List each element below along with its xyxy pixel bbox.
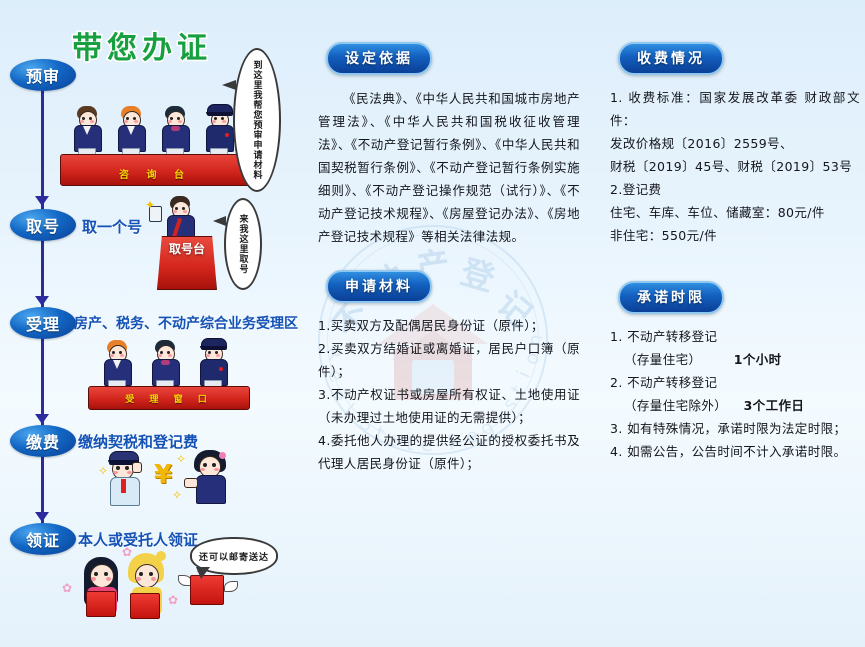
speech-bubble-tail bbox=[196, 567, 210, 579]
timeline-item: 1. 不动产转移登记 bbox=[610, 325, 860, 348]
page-title: 带您办证 bbox=[72, 23, 212, 67]
speech-bubble-tail bbox=[213, 216, 226, 226]
ems-certificate-book: EMS bbox=[190, 575, 224, 605]
clerk-figure bbox=[160, 106, 190, 152]
timeline-item-text: 4. 如需公告，公告时间不计入承诺时限。 bbox=[610, 444, 846, 459]
speech-bubble-1-text: 到这里我帮您预审申请材料 bbox=[235, 50, 279, 190]
materials-item: 3.不动产权证书或房屋所有权证、土地使用证（未办理过土地使用证的无需提供）； bbox=[318, 383, 580, 429]
clerk-figure bbox=[165, 196, 195, 242]
timeline-item: （存量住宅） 1个小时 bbox=[610, 348, 860, 371]
fees-item: 财税〔2019〕45号、财税〔2019〕53号 bbox=[610, 155, 860, 178]
speech-bubble-2-text: 来我这里取号 bbox=[226, 200, 260, 288]
clerk-figure bbox=[116, 106, 146, 152]
currency-symbol: ¥ bbox=[154, 460, 172, 490]
materials-item: 4.委托他人办理的提供经公证的授权委托书及代理人居民身份证（原件）； bbox=[318, 429, 580, 475]
clerk-figure bbox=[72, 106, 102, 152]
payment-scene: ¥ ✧ ✧ ✧ bbox=[98, 448, 258, 508]
certificate-book bbox=[86, 591, 116, 617]
timeline-item-highlight: 3个工作日 bbox=[744, 398, 805, 413]
timeline-item: （存量住宅除外） 3个工作日 bbox=[610, 394, 860, 417]
materials-item: 1.买卖双方及配偶居民身份证（原件）； bbox=[318, 314, 580, 337]
speech-bubble-1: 到这里我帮您预审申请材料 bbox=[233, 48, 281, 192]
poster-root: 不 动 产 登 记 R e a l S t a t e R e g i s t … bbox=[0, 0, 865, 647]
flow-arrow-icon bbox=[35, 414, 49, 424]
materials-list: 1.买卖双方及配偶居民身份证（原件）； 2.买卖双方结婚证或离婚证，居民户口簿（… bbox=[318, 314, 580, 475]
flow-step-badge-3[interactable]: 受理 bbox=[10, 307, 76, 339]
section-heading-basis: 设定依据 bbox=[326, 42, 432, 75]
officer-figure bbox=[204, 106, 234, 152]
consult-counter-scene: 咨 询 台 bbox=[60, 100, 250, 190]
wing-right-icon bbox=[224, 581, 238, 592]
accept-desk: 受 理 窗 口 bbox=[88, 386, 250, 410]
certificate-scene: ✿ ✿ ✿ EMS 还可以邮寄送达 bbox=[60, 545, 300, 635]
timeline-item: 2. 不动产转移登记 bbox=[610, 371, 860, 394]
officer-figure bbox=[108, 452, 142, 508]
timeline-item-text: 2. 不动产转移登记 bbox=[610, 375, 717, 390]
timeline-item-text: （存量住宅） bbox=[624, 352, 701, 367]
accept-desk-sign: 受 理 窗 口 bbox=[89, 392, 249, 405]
timeline-item-highlight: 1个小时 bbox=[734, 352, 782, 367]
consult-desk-sign: 咨 询 台 bbox=[61, 166, 249, 181]
consult-desk: 咨 询 台 bbox=[60, 154, 250, 186]
timeline-item: 3. 如有特殊情况，承诺时限为法定时限； bbox=[610, 417, 860, 440]
fees-item: 非住宅：550元/件 bbox=[610, 224, 860, 247]
ticket-podium: 取号台 bbox=[157, 236, 217, 290]
middle-column: 设定依据 《民法典》、《中华人民共和国城市房地产管理法》、《中华人民共和国税收征… bbox=[318, 42, 580, 475]
fees-item: 住宅、车库、车位、储藏室：80元/件 bbox=[610, 201, 860, 224]
timeline-list: 1. 不动产转移登记 （存量住宅） 1个小时 2. 不动产转移登记 （存量住宅除… bbox=[610, 325, 860, 463]
section-heading-materials: 申请材料 bbox=[326, 270, 432, 303]
timeline-item-text: 3. 如有特殊情况，承诺时限为法定时限； bbox=[610, 421, 846, 436]
timeline-item-text: （存量住宅除外） bbox=[624, 398, 727, 413]
right-column: 收费情况 1. 收费标准：国家发展改革委 财政部文件： 发改价格规〔2016〕2… bbox=[610, 42, 860, 463]
basis-body-text: 《民法典》、《中华人民共和国城市房地产管理法》、《中华人民共和国税收征收管理法》… bbox=[318, 87, 580, 248]
flow-step-badge-4[interactable]: 缴费 bbox=[10, 425, 76, 457]
flow-step-badge-1[interactable]: 预审 bbox=[10, 59, 76, 91]
timeline-item-text: 1. 不动产转移登记 bbox=[610, 329, 717, 344]
flow-step-badge-2[interactable]: 取号 bbox=[10, 209, 76, 241]
flow-step-label-3: 房产、税务、不动产综合业务受理区 bbox=[74, 313, 298, 333]
ticket-podium-scene: ✦ 取号台 bbox=[135, 196, 225, 291]
flow-arrow-icon bbox=[35, 196, 49, 206]
section-heading-timeline: 承诺时限 bbox=[618, 281, 724, 314]
fees-item: 1. 收费标准：国家发展改革委 财政部文件： bbox=[610, 86, 860, 132]
materials-item: 2.买卖双方结婚证或离婚证，居民户口簿（原件）； bbox=[318, 337, 580, 383]
workflow-column: 预审 bbox=[0, 0, 300, 647]
fees-item: 发改价格规〔2016〕2559号、 bbox=[610, 132, 860, 155]
flow-arrow-icon bbox=[35, 512, 49, 522]
certificate-book bbox=[130, 593, 160, 619]
fees-list: 1. 收费标准：国家发展改革委 财政部文件： 发改价格规〔2016〕2559号、… bbox=[610, 86, 860, 247]
speech-bubble-2: 来我这里取号 bbox=[224, 198, 262, 290]
speech-bubble-tail bbox=[222, 80, 236, 90]
ticket-podium-sign: 取号台 bbox=[158, 243, 216, 256]
accept-counter-scene: 受 理 窗 口 bbox=[88, 338, 253, 410]
section-heading-fees: 收费情况 bbox=[618, 42, 724, 75]
citizen-figure bbox=[194, 450, 228, 506]
fees-item: 2.登记费 bbox=[610, 178, 860, 201]
flow-step-label-2: 取一个号 bbox=[82, 216, 142, 237]
timeline-item: 4. 如需公告，公告时间不计入承诺时限。 bbox=[610, 440, 860, 463]
flow-arrow-icon bbox=[35, 296, 49, 306]
